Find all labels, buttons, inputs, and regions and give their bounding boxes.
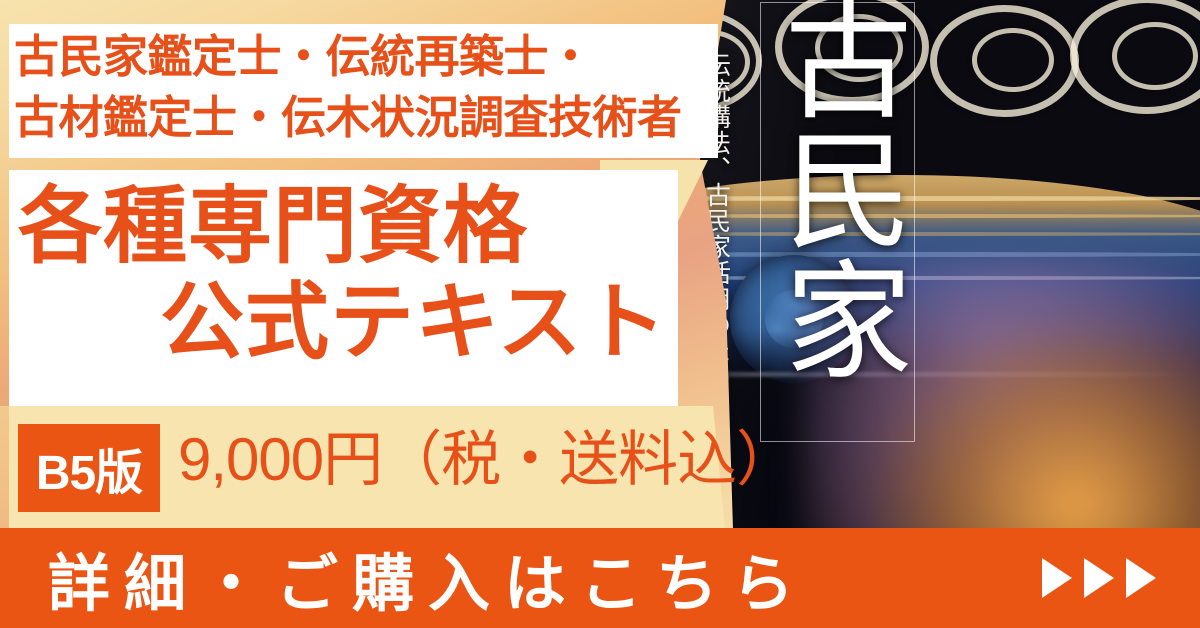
cta-bar[interactable]: 詳細・ご購入はこちら <box>0 528 1200 628</box>
cta-label: 詳細・ご購入はこちら <box>48 533 808 623</box>
price-text: 9,000円（税・送料込） <box>178 430 795 490</box>
headline-line-1: 古民家鑑定士・伝統再築士・ <box>14 26 714 87</box>
promo-banner: 古民家 伝統構法、古民家活用のための調査と再生の 古民家鑑定士・伝統再築士・ 古… <box>0 0 1200 628</box>
triangle-right-icon <box>1084 558 1114 598</box>
triangle-right-icon <box>1042 558 1072 598</box>
main-title-line-2: 公式テキスト <box>160 280 667 364</box>
cover-title: 古民家 <box>772 0 902 384</box>
triangle-right-icon <box>1126 558 1156 598</box>
cta-arrows <box>1042 558 1156 598</box>
main-title-line-1: 各種専門資格 <box>18 184 528 268</box>
format-badge: B5版 <box>18 424 160 512</box>
headline-line-2: 古材鑑定士・伝木状況調査技術者 <box>14 87 714 148</box>
headline: 古民家鑑定士・伝統再築士・ 古材鑑定士・伝木状況調査技術者 <box>14 26 714 148</box>
